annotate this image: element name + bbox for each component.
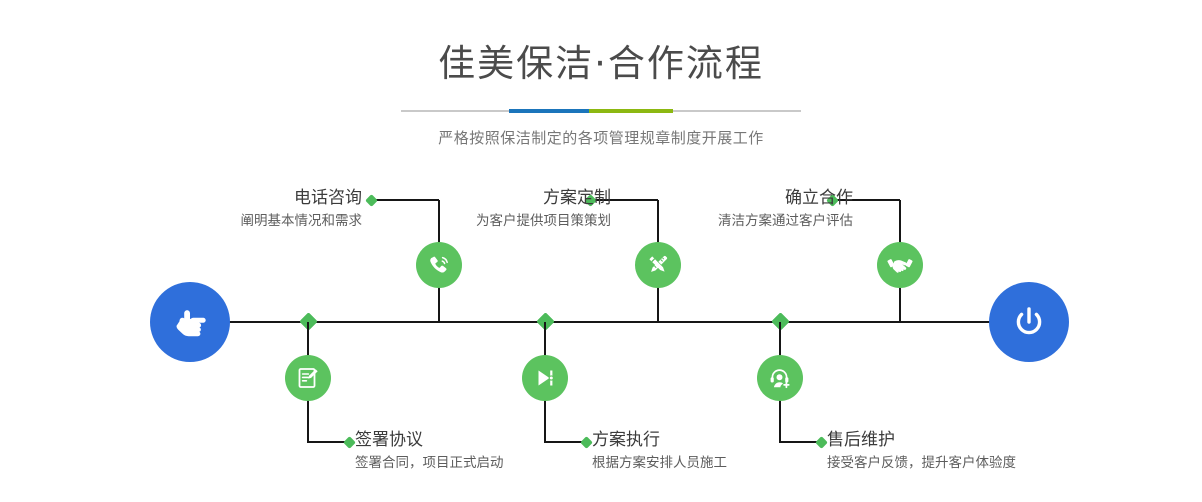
timeline-end-node[interactable]	[989, 282, 1069, 362]
step-5-title: 确立合作	[608, 188, 853, 208]
page-title: 佳美保洁·合作流程	[0, 0, 1202, 82]
pencil-ruler-icon	[644, 251, 672, 279]
step-4-title: 方案执行	[592, 430, 852, 450]
title-divider	[401, 109, 801, 113]
step-6-icon-node[interactable]	[757, 355, 803, 401]
step-1-desc: 阐明基本情况和需求	[152, 208, 362, 231]
page-subtitle: 严格按照保洁制定的各项管理规章制度开展工作	[0, 113, 1202, 148]
step-6-title: 售后维护	[827, 430, 1127, 450]
document-pen-icon	[295, 365, 321, 391]
play-skip-icon	[532, 365, 558, 391]
timeline-start-node[interactable]	[150, 282, 230, 362]
step-2-desc: 签署合同，项目正式启动	[355, 450, 615, 473]
step-4-label: 方案执行 根据方案安排人员施工	[592, 430, 852, 473]
divider-segment-green	[589, 109, 673, 113]
headset-plus-icon	[767, 365, 793, 391]
step-6-desc: 接受客户反馈，提升客户体验度	[827, 450, 1127, 473]
flow-diagram-canvas: 佳美保洁·合作流程 严格按照保洁制定的各项管理规章制度开展工作	[0, 0, 1202, 502]
step-2-title: 签署协议	[355, 430, 615, 450]
page-header: 佳美保洁·合作流程 严格按照保洁制定的各项管理规章制度开展工作	[0, 0, 1202, 148]
step-1-label: 电话咨询 阐明基本情况和需求	[152, 188, 362, 231]
step-1-icon-node[interactable]	[416, 242, 462, 288]
power-icon	[1006, 299, 1052, 345]
phone-call-icon	[425, 251, 453, 279]
step-5-desc: 清洁方案通过客户评估	[608, 208, 853, 231]
divider-segment-blue	[509, 109, 589, 113]
step-3-title: 方案定制	[371, 188, 611, 208]
step-4-desc: 根据方案安排人员施工	[592, 450, 852, 473]
step-5-label: 确立合作 清洁方案通过客户评估	[608, 188, 853, 231]
pointing-hand-icon	[167, 299, 213, 345]
step-2-label-diamond	[343, 436, 356, 449]
step-3-icon-node[interactable]	[635, 242, 681, 288]
step-5-icon-node[interactable]	[877, 242, 923, 288]
step-4-icon-node[interactable]	[522, 355, 568, 401]
step-6-label: 售后维护 接受客户反馈，提升客户体验度	[827, 430, 1127, 473]
step-3-desc: 为客户提供项目策策划	[371, 208, 611, 231]
handshake-icon	[886, 251, 914, 279]
step-3-label: 方案定制 为客户提供项目策策划	[371, 188, 611, 231]
step-2-label: 签署协议 签署合同，项目正式启动	[355, 430, 615, 473]
step-2-icon-node[interactable]	[285, 355, 331, 401]
step-1-title: 电话咨询	[152, 188, 362, 208]
